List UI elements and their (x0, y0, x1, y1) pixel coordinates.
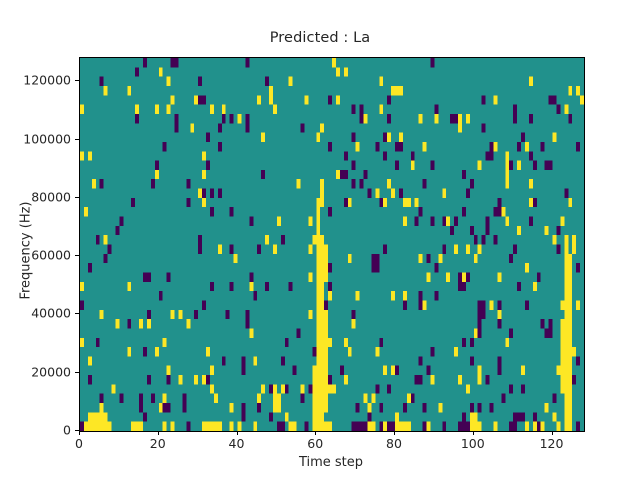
y-tick-mark (75, 430, 79, 431)
y-tick-label: 80000 (0, 189, 71, 204)
y-axis-label: Frequency (Hz) (19, 141, 34, 361)
x-tick-label: 120 (540, 436, 564, 451)
y-tick-mark (75, 139, 79, 140)
x-axis-label: Time step (79, 455, 583, 470)
y-tick-mark (75, 80, 79, 81)
y-tick-mark (75, 313, 79, 314)
x-tick-label: 20 (150, 436, 166, 451)
y-tick-label: 0 (0, 423, 71, 438)
heatmap-canvas (80, 58, 584, 431)
y-tick-label: 100000 (0, 131, 71, 146)
y-tick-mark (75, 372, 79, 373)
y-tick-label: 20000 (0, 364, 71, 379)
x-tick-mark (158, 431, 159, 435)
y-tick-label: 120000 (0, 73, 71, 88)
y-tick-label: 60000 (0, 248, 71, 263)
y-tick-label: 40000 (0, 306, 71, 321)
y-tick-mark (75, 197, 79, 198)
y-tick-mark (75, 255, 79, 256)
x-tick-label: 40 (229, 436, 245, 451)
x-tick-label: 100 (461, 436, 485, 451)
x-tick-mark (79, 431, 80, 435)
page-title: Predicted : La (0, 30, 640, 46)
x-tick-mark (315, 431, 316, 435)
x-tick-mark (552, 431, 553, 435)
x-tick-label: 0 (75, 436, 83, 451)
matplotlib-figure: Predicted : La 020406080100120 020000400… (0, 0, 640, 480)
x-tick-mark (473, 431, 474, 435)
heatmap-plot-area (79, 57, 585, 432)
x-tick-mark (237, 431, 238, 435)
x-tick-mark (394, 431, 395, 435)
x-tick-label: 80 (386, 436, 402, 451)
x-tick-label: 60 (307, 436, 323, 451)
